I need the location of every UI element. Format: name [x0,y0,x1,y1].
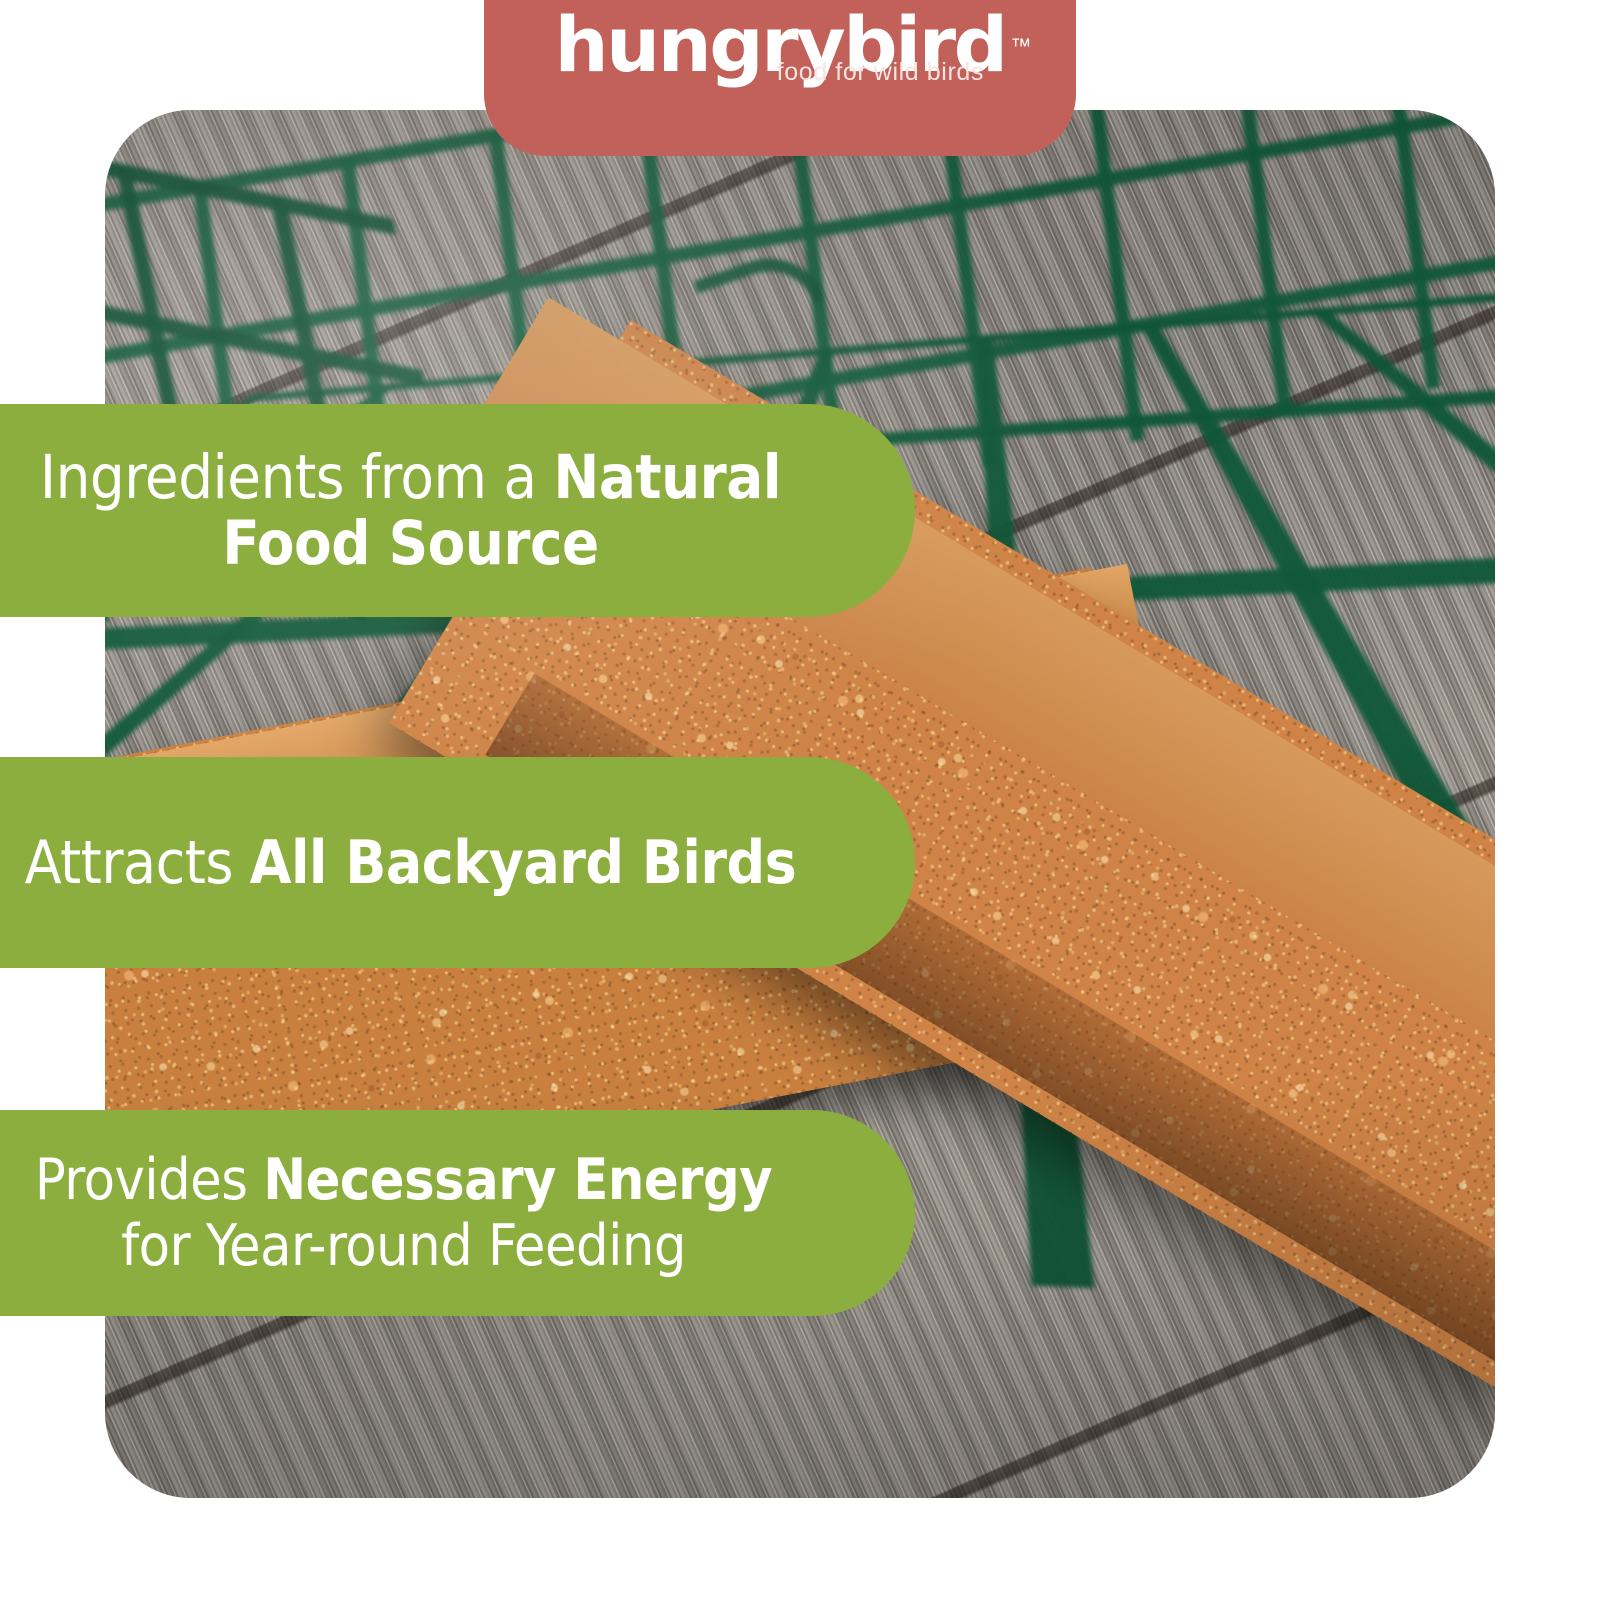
trademark-icon: ™ [1011,8,1032,86]
feature-banner-text: Ingredients from a Natural Food Source [0,445,915,577]
feature-banner-text: Attracts All Backyard Birds [0,830,892,896]
feature-emphasis-text: Necessary Energy [263,1147,772,1213]
feature-banner-natural-food-source: Ingredients from a Natural Food Source [0,404,915,617]
feature-trail-text: for Year-round Feeding [121,1213,686,1279]
brand-logo-badge: hungrybird ™ food for wild birds [484,0,1076,156]
brand-tagline: food for wild birds [777,58,984,87]
feature-emphasis-text: All Backyard Birds [250,828,797,898]
feature-lead-text: Attracts [25,828,250,898]
feature-lead-text: Ingredients from a [40,442,554,513]
feature-banner-necessary-energy: Provides Necessary Energy for Year-round… [0,1110,915,1316]
feature-banner-attracts-all-backyard-birds: Attracts All Backyard Birds [0,757,915,968]
product-feature-graphic: hungrybird ™ food for wild birds Ingredi… [0,0,1600,1600]
feature-lead-text: Provides [35,1147,263,1213]
feature-banner-text: Provides Necessary Energy for Year-round… [0,1147,915,1279]
